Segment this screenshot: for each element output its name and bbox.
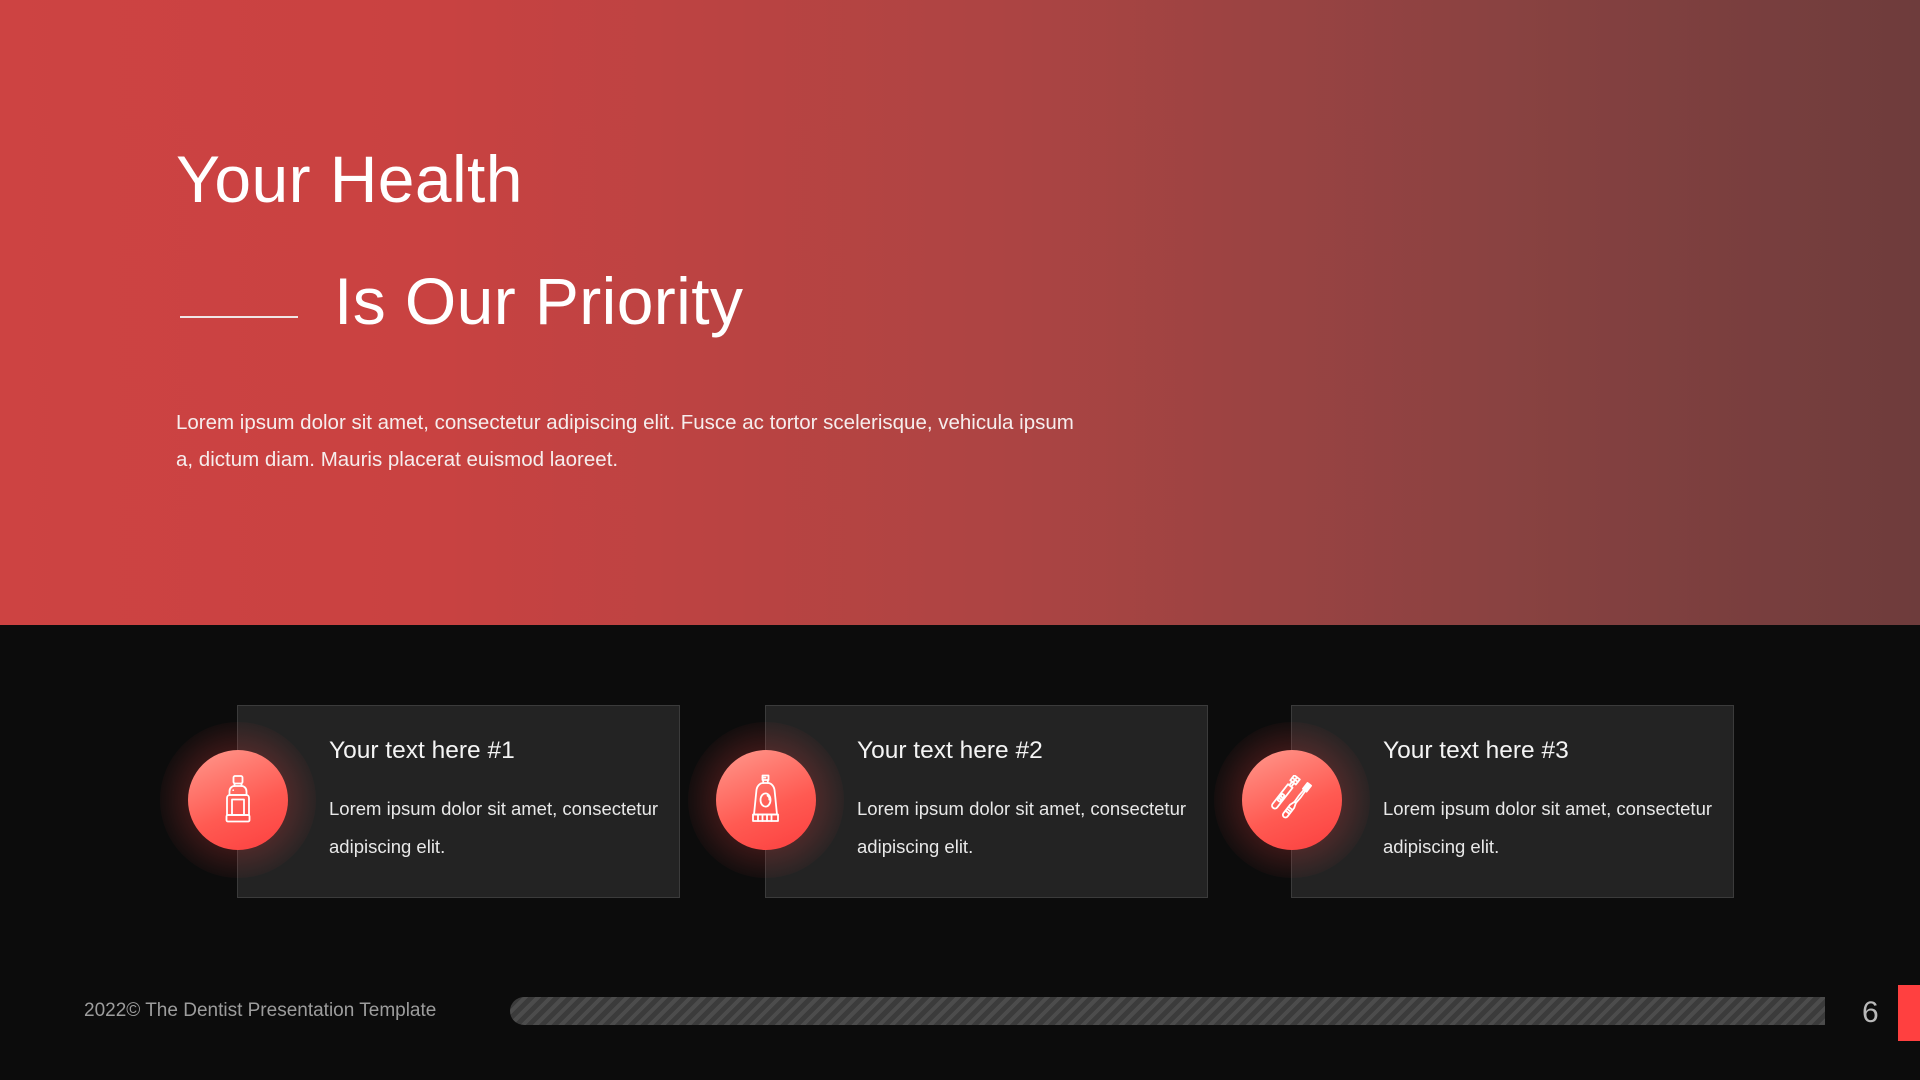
card-icon-badge	[188, 750, 288, 850]
page-number: 6	[1862, 996, 1879, 1030]
card-title: Your text here #2	[857, 737, 1043, 765]
slide-progress-bar[interactable]	[510, 997, 1825, 1025]
card-body: Lorem ipsum dolor sit amet, consectetur …	[1383, 790, 1713, 866]
accent-marker	[1898, 985, 1920, 1041]
hero-description: Lorem ipsum dolor sit amet, consectetur …	[176, 404, 1086, 478]
page-title-line2: Is Our Priority	[334, 268, 743, 334]
page-title-line1: Your Health	[176, 146, 523, 212]
card-icon-badge	[716, 750, 816, 850]
toothbrushes-icon	[1242, 750, 1342, 850]
card-icon-badge	[1242, 750, 1342, 850]
feature-card[interactable]: Your text here #1 Lorem ipsum dolor sit …	[237, 705, 680, 898]
feature-card-group: Your text here #1 Lorem ipsum dolor sit …	[0, 705, 1920, 900]
mouthwash-bottle-icon	[188, 750, 288, 850]
slide-root: Your Health Is Our Priority Lorem ipsum …	[0, 0, 1920, 1080]
card-title: Your text here #3	[1383, 737, 1569, 765]
feature-card[interactable]: Your text here #3 Lorem ipsum dolor sit …	[1291, 705, 1734, 898]
toothpaste-tube-icon	[716, 750, 816, 850]
hero-banner: Your Health Is Our Priority Lorem ipsum …	[0, 0, 1920, 625]
card-body: Lorem ipsum dolor sit amet, consectetur …	[329, 790, 659, 866]
title-divider-rule	[180, 316, 298, 318]
feature-card[interactable]: Your text here #2 Lorem ipsum dolor sit …	[765, 705, 1208, 898]
card-body: Lorem ipsum dolor sit amet, consectetur …	[857, 790, 1187, 866]
card-title: Your text here #1	[329, 737, 515, 765]
footer-copyright: 2022© The Dentist Presentation Template	[84, 1000, 436, 1022]
